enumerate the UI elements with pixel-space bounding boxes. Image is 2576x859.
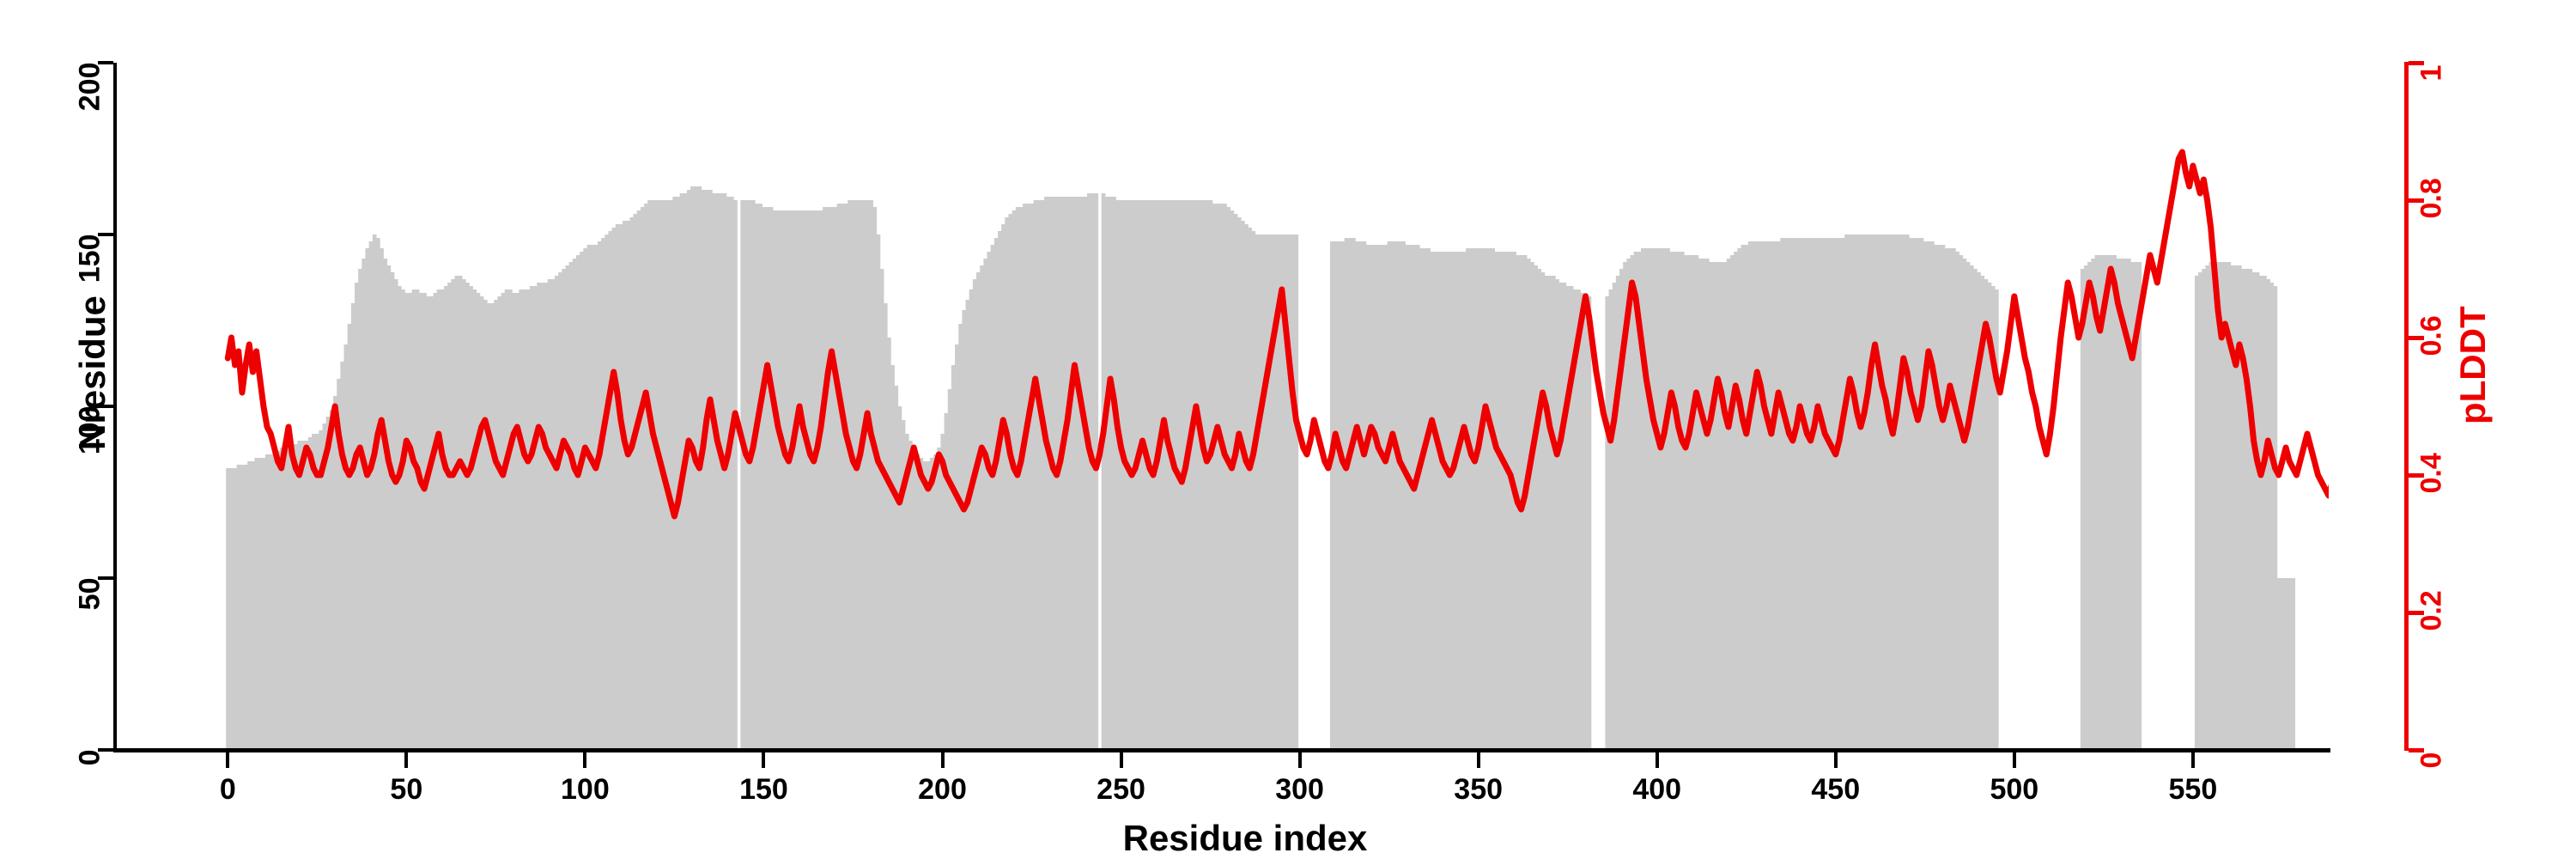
- bar: [412, 289, 416, 750]
- bar: [1752, 241, 1756, 750]
- bar: [1826, 238, 1831, 750]
- bar: [1005, 217, 1009, 750]
- bar: [776, 210, 781, 750]
- bar: [1945, 248, 1949, 750]
- bar: [2109, 255, 2113, 750]
- bar: [1244, 224, 1249, 750]
- bar: [1498, 252, 1503, 750]
- bar: [1720, 262, 1724, 750]
- bar: [383, 259, 387, 750]
- bar: [637, 210, 641, 750]
- bar: [1072, 197, 1077, 750]
- bar: [434, 293, 438, 750]
- bar: [1087, 193, 1091, 750]
- bar: [766, 207, 770, 750]
- bar: [280, 448, 284, 750]
- bar: [616, 224, 620, 750]
- bar: [1880, 235, 1885, 750]
- bar: [1831, 238, 1835, 750]
- bar: [1380, 245, 1384, 750]
- bar: [980, 265, 984, 750]
- bar: [1008, 214, 1012, 750]
- bar: [819, 210, 823, 750]
- bar: [723, 193, 727, 750]
- bar: [647, 200, 652, 750]
- bar: [987, 252, 992, 750]
- bottom-axis-tick: [226, 752, 229, 768]
- bar: [1884, 235, 1888, 750]
- bar: [483, 300, 488, 750]
- bar: [1455, 252, 1460, 750]
- bar: [1494, 252, 1498, 750]
- bar: [512, 293, 516, 750]
- bar: [315, 434, 319, 750]
- bar: [1673, 252, 1677, 750]
- bar: [1230, 210, 1234, 750]
- bar: [1941, 245, 1946, 750]
- bottom-axis-tick: [1120, 752, 1123, 768]
- bar: [373, 235, 377, 750]
- bar: [361, 259, 366, 750]
- bar: [2091, 259, 2095, 750]
- bottom-axis-tick-label: 250: [1070, 773, 1173, 807]
- bar: [1730, 255, 1735, 750]
- bar: [226, 468, 230, 750]
- bar: [855, 200, 860, 750]
- bar: [629, 217, 634, 750]
- bar: [762, 207, 766, 750]
- bar: [851, 200, 855, 750]
- bar: [1838, 238, 1842, 750]
- bar: [655, 200, 659, 750]
- bar: [537, 283, 541, 750]
- bar: [1409, 245, 1413, 750]
- bar: [1920, 238, 1924, 750]
- bar: [998, 231, 1002, 750]
- bar: [1251, 231, 1255, 750]
- bar: [1666, 248, 1670, 750]
- bar: [351, 303, 355, 750]
- bar: [1066, 197, 1070, 750]
- bar: [1287, 235, 1291, 750]
- bar: [1437, 252, 1442, 750]
- bar: [301, 441, 306, 750]
- bar: [459, 276, 463, 750]
- bar: [1705, 259, 1710, 750]
- bar: [1334, 241, 1338, 750]
- bar: [1016, 207, 1020, 750]
- bar: [626, 221, 630, 750]
- bar: [2105, 255, 2110, 750]
- bar: [2248, 269, 2252, 750]
- bar: [1462, 252, 1467, 750]
- bar: [1170, 200, 1174, 750]
- bar: [1748, 241, 1753, 750]
- bar: [297, 441, 301, 750]
- bar: [437, 289, 441, 750]
- bar: [1762, 241, 1766, 750]
- bar: [265, 454, 270, 750]
- bar: [1091, 193, 1095, 750]
- bar: [1709, 262, 1713, 750]
- bar: [730, 197, 734, 750]
- bar: [1684, 255, 1688, 750]
- bar: [884, 303, 888, 750]
- bar: [902, 420, 906, 750]
- bar: [1816, 238, 1820, 750]
- bar: [1934, 245, 1938, 750]
- bar: [605, 235, 609, 750]
- bar: [294, 444, 298, 750]
- bottom-axis-tick: [1834, 752, 1838, 768]
- bar: [462, 279, 466, 750]
- bar: [465, 283, 470, 750]
- bar: [1662, 248, 1667, 750]
- bar: [2263, 276, 2267, 750]
- bar: [544, 283, 549, 750]
- bar: [2284, 578, 2288, 750]
- bar: [2112, 255, 2117, 750]
- bar: [669, 200, 673, 750]
- bar: [333, 396, 337, 750]
- bar: [1741, 245, 1746, 750]
- bar: [440, 289, 445, 750]
- bottom-axis-tick: [762, 752, 765, 768]
- bar: [1001, 224, 1005, 750]
- right-axis-tick-label: 0: [2415, 752, 2449, 769]
- bar: [783, 210, 787, 750]
- bar: [1080, 197, 1084, 750]
- bar: [1820, 238, 1824, 750]
- bar: [751, 200, 756, 750]
- bar: [1137, 200, 1141, 750]
- bar: [834, 207, 838, 750]
- bar: [455, 276, 459, 750]
- bar: [966, 300, 970, 750]
- bar: [1448, 252, 1452, 750]
- bar: [1158, 200, 1163, 750]
- bar: [1398, 241, 1402, 750]
- bar: [1823, 238, 1827, 750]
- bar: [2256, 272, 2260, 750]
- bar: [2202, 269, 2206, 750]
- bar: [1216, 204, 1220, 750]
- bar: [326, 417, 331, 750]
- bar: [1226, 207, 1230, 750]
- bar: [1813, 238, 1817, 750]
- bar: [1862, 235, 1867, 750]
- bar: [1644, 248, 1649, 750]
- bar: [1927, 241, 1931, 750]
- bar: [472, 289, 477, 750]
- bar: [583, 248, 587, 750]
- bar: [1366, 245, 1370, 750]
- bar: [773, 210, 777, 750]
- bar: [234, 468, 238, 750]
- bar: [1434, 252, 1438, 750]
- bar: [1631, 255, 1635, 750]
- bar: [515, 293, 519, 750]
- bar: [1902, 235, 1906, 750]
- bar: [1484, 248, 1488, 750]
- bar: [1459, 252, 1463, 750]
- bar: [1788, 238, 1792, 750]
- bar: [1712, 262, 1716, 750]
- bar: [726, 197, 731, 750]
- bar: [1930, 241, 1935, 750]
- bar: [1783, 238, 1788, 750]
- bar: [1734, 252, 1738, 750]
- bar: [533, 286, 538, 750]
- bar: [912, 448, 916, 750]
- bar: [1430, 252, 1434, 750]
- bar: [530, 286, 534, 750]
- bar: [1198, 200, 1202, 750]
- bottom-axis-line: [113, 748, 2330, 752]
- bar: [1041, 200, 1045, 750]
- bar: [1269, 235, 1273, 750]
- bar: [919, 458, 923, 750]
- bar: [2252, 272, 2257, 750]
- bar: [837, 204, 841, 750]
- bar: [426, 296, 430, 750]
- bar: [1401, 241, 1406, 750]
- bar: [469, 286, 473, 750]
- bottom-axis-tick-label: 400: [1606, 773, 1709, 807]
- bar: [487, 303, 491, 750]
- bar: [2195, 276, 2199, 750]
- bar: [2205, 265, 2209, 750]
- bar: [994, 238, 999, 750]
- bar: [908, 441, 913, 750]
- bar: [1766, 241, 1771, 750]
- bar: [2241, 269, 2245, 750]
- bar: [401, 289, 405, 750]
- bottom-axis-tick: [2013, 752, 2016, 768]
- bar: [1834, 238, 1838, 750]
- bottom-axis-tick-label: 500: [1963, 773, 2066, 807]
- bar: [358, 269, 362, 750]
- bar: [1212, 204, 1217, 750]
- bar: [1791, 238, 1795, 750]
- bar: [2269, 283, 2274, 750]
- bottom-axis-tick-label: 150: [712, 773, 815, 807]
- bar: [880, 269, 884, 750]
- bar: [348, 324, 352, 750]
- bar: [386, 265, 391, 750]
- bar: [1391, 241, 1395, 750]
- bar: [1801, 238, 1806, 750]
- bar: [1166, 200, 1170, 750]
- bar: [508, 289, 513, 750]
- bar: [969, 289, 974, 750]
- bar: [598, 241, 602, 750]
- bar: [1916, 238, 1920, 750]
- bar: [376, 238, 380, 750]
- bar: [1805, 238, 1809, 750]
- bar: [247, 461, 252, 750]
- bottom-axis-tick-label: 550: [2142, 773, 2245, 807]
- bar: [1362, 241, 1366, 750]
- bar: [1502, 252, 1506, 750]
- bar: [1966, 262, 1971, 750]
- bar: [794, 210, 799, 750]
- left-axis-tick-label: 200: [74, 63, 107, 153]
- bar: [612, 228, 617, 750]
- bar: [566, 265, 570, 750]
- bar: [1869, 235, 1874, 750]
- bar: [1469, 248, 1473, 750]
- bar: [416, 289, 420, 750]
- bar: [408, 293, 412, 750]
- bar: [634, 214, 638, 750]
- bar: [2287, 578, 2292, 750]
- bar: [1145, 200, 1149, 750]
- bar: [551, 279, 556, 750]
- bar: [862, 200, 866, 750]
- bar: [1545, 276, 1549, 750]
- bar: [958, 324, 963, 750]
- bar: [229, 468, 234, 750]
- bar: [429, 296, 434, 750]
- bar: [1194, 200, 1199, 750]
- bar: [1291, 235, 1295, 750]
- bar: [2266, 279, 2270, 750]
- bar: [848, 200, 852, 750]
- bar: [526, 289, 531, 750]
- bar: [1648, 248, 1652, 750]
- bar: [2259, 276, 2263, 750]
- bar: [1023, 204, 1027, 750]
- bar: [1955, 252, 1959, 750]
- right-axis-tick-label: 0.8: [2415, 178, 2449, 218]
- bar: [523, 289, 527, 750]
- bar: [1219, 204, 1224, 750]
- bar: [447, 283, 452, 750]
- bar: [1340, 241, 1345, 750]
- bar: [1077, 197, 1081, 750]
- bar: [1609, 289, 1613, 750]
- bar: [748, 200, 752, 750]
- bar: [1973, 269, 1978, 750]
- bar: [1105, 197, 1109, 750]
- bar: [1205, 200, 1209, 750]
- bar: [237, 465, 241, 750]
- bar: [480, 296, 484, 750]
- bar: [1780, 238, 1784, 750]
- bar: [1755, 241, 1759, 750]
- bar: [1123, 200, 1127, 750]
- bar: [1262, 235, 1267, 750]
- bar: [1444, 252, 1449, 750]
- bar: [1540, 272, 1545, 750]
- bar: [1376, 245, 1381, 750]
- bar: [251, 461, 255, 750]
- bar: [1383, 245, 1388, 750]
- bottom-axis-tick-label: 100: [533, 773, 636, 807]
- bar: [1984, 279, 1988, 750]
- bar: [1899, 235, 1903, 750]
- bar: [1112, 197, 1116, 750]
- bar: [1188, 200, 1192, 750]
- bar: [1337, 241, 1341, 750]
- bar: [1962, 259, 1966, 750]
- nresidue-bars: [226, 186, 2295, 750]
- bar: [269, 454, 273, 750]
- bar: [319, 430, 323, 750]
- bar: [823, 207, 827, 750]
- bar: [2291, 578, 2295, 750]
- bar: [1266, 235, 1270, 750]
- bar: [476, 293, 480, 750]
- bar: [644, 204, 648, 750]
- bar: [1691, 255, 1695, 750]
- bar: [869, 200, 873, 750]
- bar: [569, 262, 574, 750]
- bar: [915, 454, 920, 750]
- bar: [1119, 200, 1123, 750]
- bar: [1480, 248, 1485, 750]
- bar: [1030, 204, 1034, 750]
- left-axis-tick-label: 50: [74, 578, 107, 668]
- bar: [1330, 241, 1334, 750]
- bar: [1723, 262, 1728, 750]
- bar: [1201, 200, 1206, 750]
- bar: [877, 235, 881, 750]
- bar: [927, 461, 931, 750]
- bar: [1759, 241, 1763, 750]
- bar: [1487, 248, 1492, 750]
- bar: [1841, 238, 1845, 750]
- bar: [1677, 252, 1681, 750]
- bar: [601, 238, 605, 750]
- bar: [1866, 235, 1870, 750]
- bar: [1651, 248, 1656, 750]
- bar: [1069, 197, 1073, 750]
- bar: [1562, 283, 1566, 750]
- bar: [866, 200, 870, 750]
- bar: [1613, 283, 1617, 750]
- bar: [1873, 235, 1877, 750]
- bar: [1109, 197, 1113, 750]
- bar: [780, 210, 784, 750]
- bar: [1905, 235, 1910, 750]
- bar: [576, 255, 580, 750]
- bar: [1505, 252, 1510, 750]
- bar: [1241, 221, 1245, 750]
- bar: [558, 272, 562, 750]
- bar: [1527, 259, 1531, 750]
- bar: [2281, 578, 2285, 750]
- bar: [1537, 269, 1541, 750]
- bar: [1352, 238, 1356, 750]
- bottom-axis-tick: [583, 752, 586, 768]
- bar: [1859, 235, 1863, 750]
- bar: [1223, 204, 1227, 750]
- bar: [1037, 200, 1042, 750]
- bar: [398, 286, 402, 750]
- bar: [1466, 248, 1470, 750]
- right-axis-label: pLDDT: [2452, 306, 2494, 424]
- bar: [787, 210, 792, 750]
- bar: [2209, 262, 2214, 750]
- bar: [791, 210, 795, 750]
- bar: [244, 465, 248, 750]
- bar: [1656, 248, 1660, 750]
- right-axis-tick-label: 0.6: [2415, 315, 2449, 356]
- bar: [1795, 238, 1799, 750]
- bar: [1209, 200, 1213, 750]
